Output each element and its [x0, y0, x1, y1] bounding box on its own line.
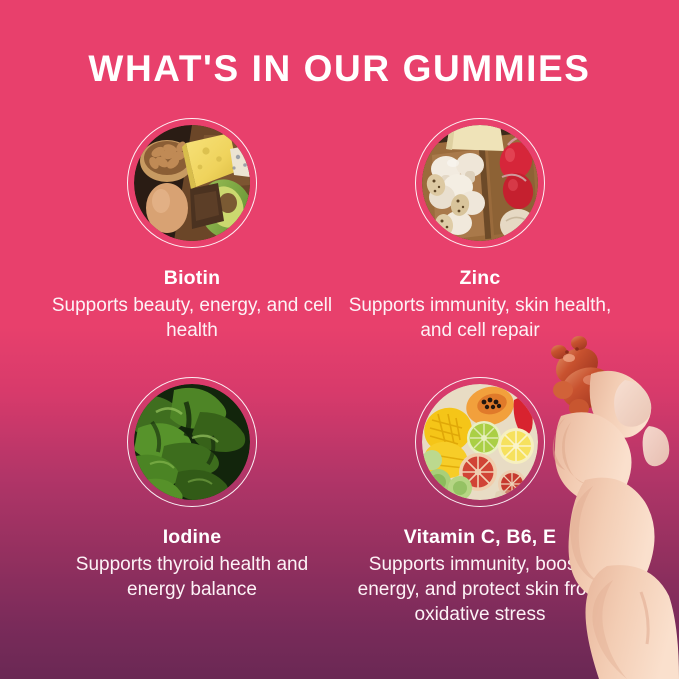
ingredient-name: Iodine: [42, 525, 342, 549]
ingredient-description: Supports immunity, boosts energy, and pr…: [330, 552, 630, 627]
ingredient-image-zinc: [415, 118, 545, 248]
product-infographic: WHAT'S IN OUR GUMMIES: [0, 0, 679, 679]
ingredient-name: Zinc: [330, 266, 630, 290]
ingredient-name: Vitamin C, B6, E: [330, 525, 630, 549]
ingredient-card-iodine: Iodine Supports thyroid health and energ…: [42, 377, 342, 602]
ingredient-description: Supports immunity, skin health, and cell…: [330, 293, 630, 343]
ingredient-card-biotin: Biotin Supports beauty, energy, and cell…: [42, 118, 342, 343]
circle-ring: [127, 377, 257, 507]
page-title: WHAT'S IN OUR GUMMIES: [0, 47, 679, 91]
circle-ring: [415, 377, 545, 507]
ingredient-image-iodine: [127, 377, 257, 507]
circle-ring: [127, 118, 257, 248]
ingredient-description: Supports thyroid health and energy balan…: [42, 552, 342, 602]
ingredient-name: Biotin: [42, 266, 342, 290]
ingredient-card-vitamins: Vitamin C, B6, E Supports immunity, boos…: [330, 377, 630, 627]
ingredient-card-zinc: Zinc Supports immunity, skin health, and…: [330, 118, 630, 343]
ingredient-image-vitamins: [415, 377, 545, 507]
circle-ring: [415, 118, 545, 248]
ingredient-description: Supports beauty, energy, and cell health: [42, 293, 342, 343]
ingredient-image-biotin: [127, 118, 257, 248]
ingredient-grid: Biotin Supports beauty, energy, and cell…: [0, 118, 679, 663]
